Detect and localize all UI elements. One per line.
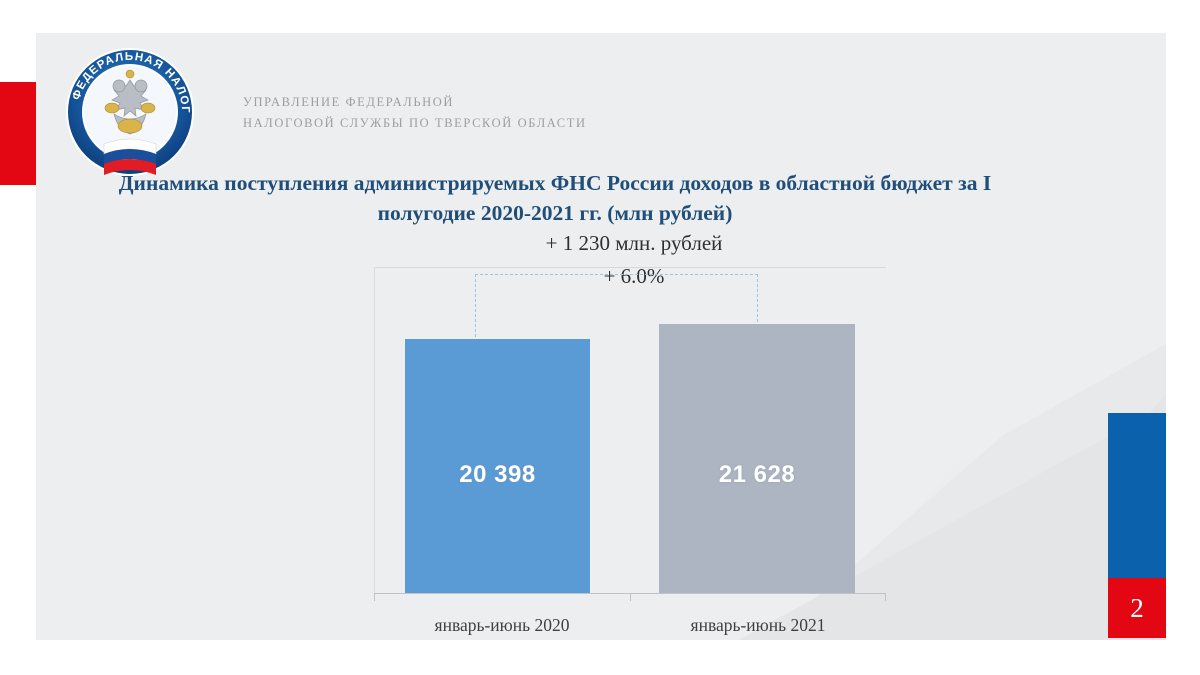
page-title: Динамика поступления администрируемых ФН… <box>90 168 1020 228</box>
x-axis-label-2021: январь-июнь 2021 <box>630 615 886 636</box>
left-red-accent-bar <box>0 82 36 185</box>
annotation-bracket-right <box>757 274 758 327</box>
x-axis-labels: январь-июнь 2020 январь-июнь 2021 <box>374 615 886 636</box>
bar-value-label: 21 628 <box>719 461 795 489</box>
bar-chart: + 1 230 млн. рублей + 6.0% 20 398 21 628… <box>374 255 886 640</box>
bar-2020[interactable]: 20 398 <box>405 339 590 593</box>
x-axis-tick <box>885 594 886 601</box>
plot-area: 20 398 21 628 январь-июнь 2020 январь-ию… <box>374 267 886 593</box>
bar-2021[interactable]: 21 628 <box>659 324 855 593</box>
x-axis-tick <box>374 594 375 601</box>
x-axis-label-2020: январь-июнь 2020 <box>374 615 630 636</box>
y-axis-line <box>374 267 375 593</box>
fns-russia-emblem-icon: ФЕДЕРАЛЬНАЯ НАЛОГОВАЯ СЛУЖБА <box>62 44 198 181</box>
annotation-absolute-change: + 1 230 млн. рублей <box>354 231 914 256</box>
bar-value-label: 20 398 <box>459 461 535 489</box>
annotation-bracket-top <box>475 274 758 275</box>
x-axis-tick <box>630 594 631 601</box>
organization-name: УПРАВЛЕНИЕ ФЕДЕРАЛЬНОЙ НАЛОГОВОЙ СЛУЖБЫ … <box>243 92 587 134</box>
top-gridline <box>374 267 886 268</box>
slide-number-badge: 2 <box>1108 578 1166 638</box>
slide-number: 2 <box>1130 595 1144 622</box>
right-accent-blue-bar <box>1108 413 1166 578</box>
